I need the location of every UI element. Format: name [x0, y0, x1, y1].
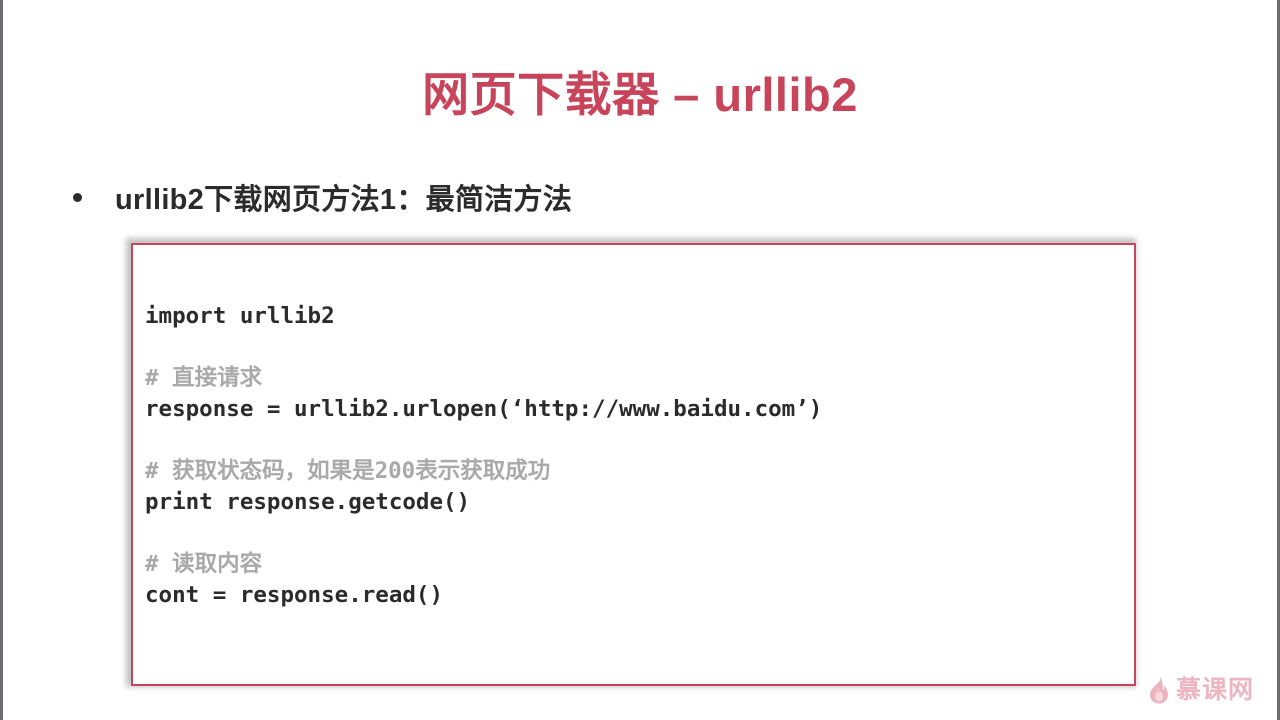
code-line-code: import urllib2 [145, 301, 1124, 332]
code-line-comment: # 直接请求 [145, 363, 1124, 394]
bullet-item: urllib2下载网页方法1：最简洁方法 [73, 176, 572, 218]
watermark-label: 慕课网 [1176, 676, 1254, 704]
code-line-blank [145, 332, 1124, 363]
slide-canvas: 网页下载器 – urllib2 urllib2下载网页方法1：最简洁方法 imp… [3, 0, 1277, 720]
flame-icon [1147, 676, 1171, 704]
code-line-code: response = urllib2.urlopen(‘http://www.b… [145, 394, 1124, 425]
player-frame-left-edge [0, 0, 3, 720]
bullet-item-label: urllib2下载网页方法1：最简洁方法 [115, 176, 572, 218]
code-line-blank [145, 518, 1124, 549]
code-block: import urllib2# 直接请求response = urllib2.u… [131, 243, 1136, 686]
code-line-code: print response.getcode() [145, 487, 1124, 518]
site-watermark: 慕课网 [1147, 676, 1254, 704]
bullet-dot-icon [73, 193, 82, 202]
code-line-code: cont = response.read() [145, 580, 1124, 611]
code-line-comment: # 读取内容 [145, 549, 1124, 580]
page-title: 网页下载器 – urllib2 [3, 56, 1277, 125]
code-line-blank [145, 425, 1124, 456]
code-block-lines: import urllib2# 直接请求response = urllib2.u… [145, 301, 1124, 611]
code-line-comment: # 获取状态码，如果是200表示获取成功 [145, 456, 1124, 487]
